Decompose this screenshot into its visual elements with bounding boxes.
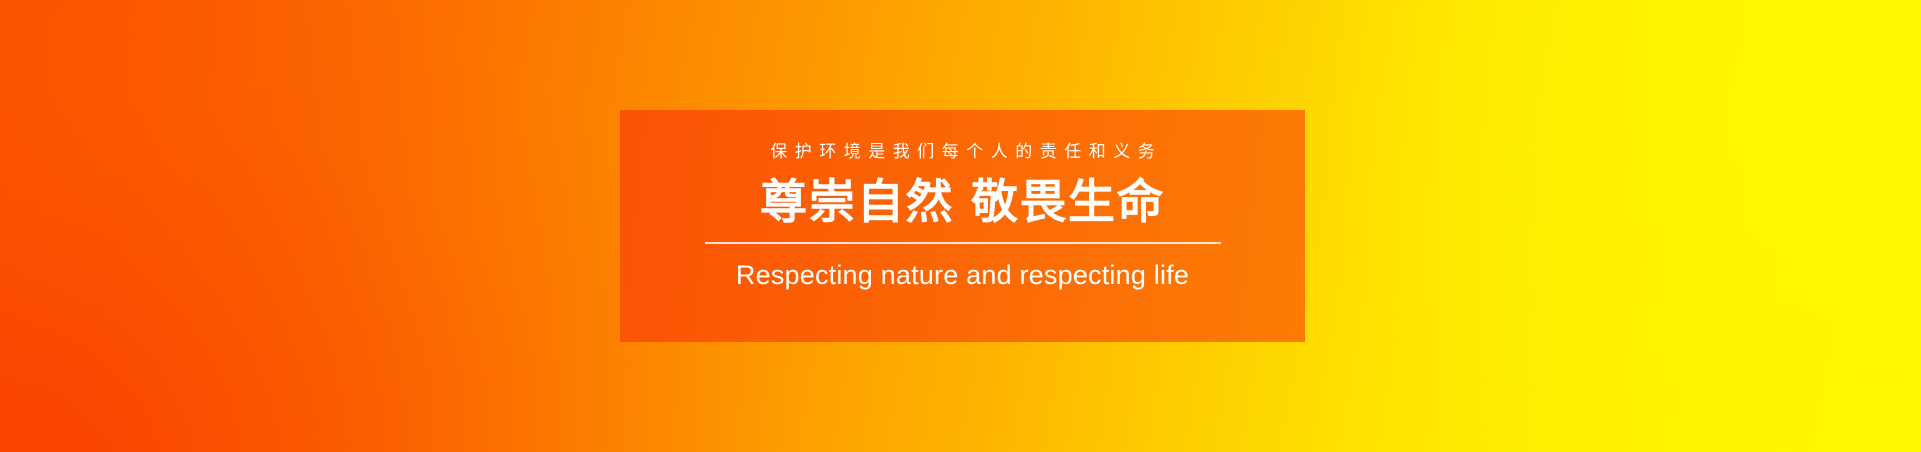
tagline-text: 保护环境是我们每个人的责任和义务 (763, 143, 1163, 160)
headline: 尊崇自然敬畏生命 (760, 176, 1165, 229)
subtitle-text: Respecting nature and respecting life (736, 260, 1189, 291)
message-panel: 保护环境是我们每个人的责任和义务 尊崇自然敬畏生命 Respecting nat… (620, 110, 1305, 342)
environmental-banner: 保护环境是我们每个人的责任和义务 尊崇自然敬畏生命 Respecting nat… (0, 0, 1921, 452)
divider-rule (705, 242, 1221, 244)
headline-phrase-right: 敬畏生命 (971, 175, 1165, 228)
headline-phrase-left: 尊崇自然 (760, 175, 954, 228)
